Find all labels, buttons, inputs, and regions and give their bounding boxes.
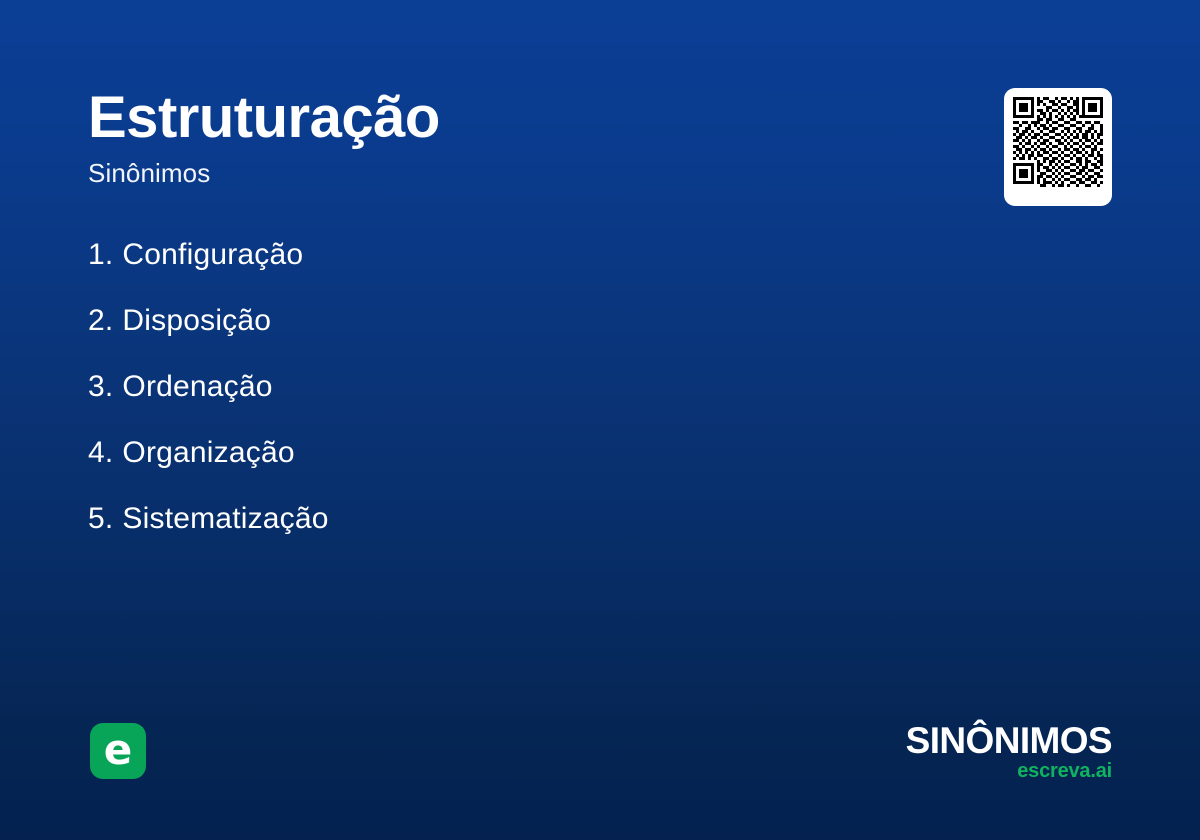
brand-tagline: escreva.ai [906,761,1112,781]
synonym-item: 5.Sistematização [88,502,888,568]
synonym-index: 3. [88,370,113,404]
brand-lockup: SINÔNIMOS escreva.ai [906,722,1112,781]
synonym-item: 3.Ordenação [88,370,888,436]
synonym-word: Ordenação [122,370,272,404]
synonym-item: 2.Disposição [88,304,888,370]
escreva-e-logo-icon[interactable]: e [90,723,146,779]
synonym-word: Organização [122,436,294,470]
synonym-index: 2. [88,304,113,338]
qr-code-icon [1013,97,1103,187]
synonym-list: 1.Configuração2.Disposição3.Ordenação4.O… [88,238,888,568]
synonym-index: 4. [88,436,113,470]
synonym-index: 1. [88,238,113,272]
qr-code-card[interactable] [1004,88,1112,206]
synonym-word: Sistematização [122,502,328,536]
page-title: Estruturação [88,88,848,148]
synonym-item: 4.Organização [88,436,888,502]
header: Estruturação Sinônimos [88,88,848,189]
synonym-card: Estruturação Sinônimos 1.Configuração2.D… [0,0,1200,840]
synonym-item: 1.Configuração [88,238,888,304]
synonym-word: Configuração [122,238,303,272]
page-subtitle: Sinônimos [88,158,848,189]
app-badge-letter: e [104,729,133,771]
synonym-word: Disposição [122,304,271,338]
synonym-index: 5. [88,502,113,536]
brand-name: SINÔNIMOS [906,722,1112,759]
